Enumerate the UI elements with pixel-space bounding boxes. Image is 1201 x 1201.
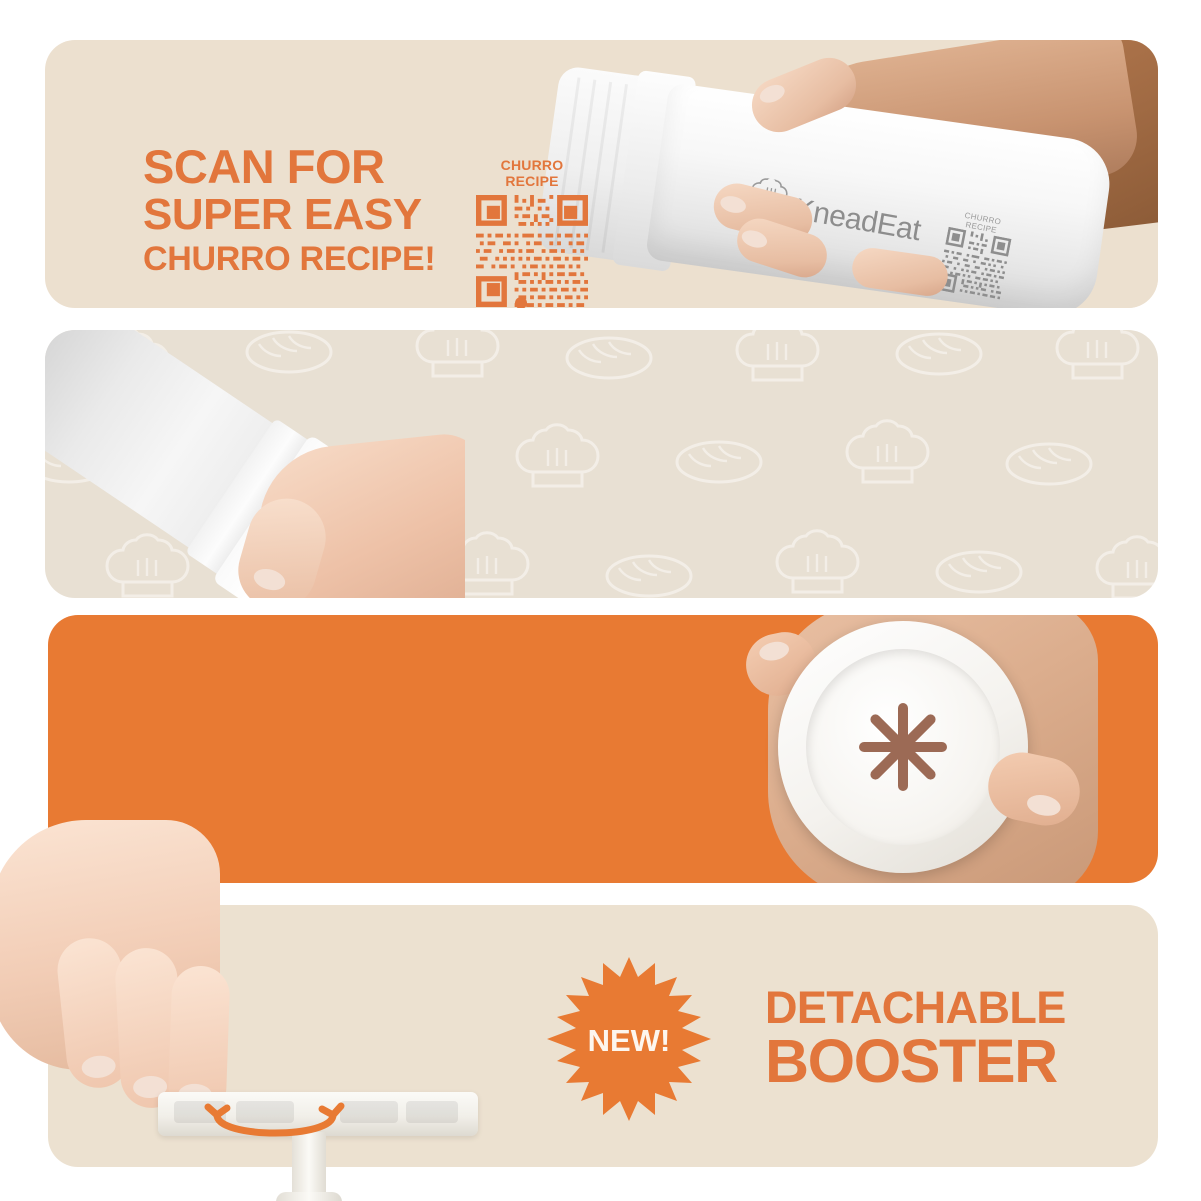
scan-title-line3: CHURRO RECIPE! — [143, 238, 435, 281]
rotate-arrow-icon — [195, 1095, 355, 1157]
panel-scan-title: SCAN FOR SUPER EASY CHURRO RECIPE! — [143, 142, 435, 281]
qr-code-icon[interactable] — [476, 195, 588, 307]
scan-title-line1: SCAN FOR — [143, 142, 435, 192]
new-badge-text: NEW! — [588, 1023, 671, 1058]
booster-title-line1: DETACHABLE — [765, 985, 1066, 1030]
photo-hand-holding-tube: KneadEat CHURRO RECIPE — [538, 40, 1158, 308]
nozzle-cap — [778, 621, 1028, 873]
booster-title-line2: BOOSTER — [765, 1030, 1066, 1092]
scan-title-line2: SUPER EASY — [143, 192, 435, 239]
qr-caption-line1: CHURRO — [470, 158, 594, 174]
qr-code-block[interactable]: CHURRO RECIPE — [470, 158, 594, 308]
photo-hand-holding-nozzle-cap — [738, 615, 1158, 883]
panel-translucid-plastic: BPA FREE TRANSLUCID PLASTIC — [45, 330, 1158, 598]
star-nozzle-icon — [853, 697, 953, 797]
product-infographic: KneadEat CHURRO RECIPE — [0, 0, 1201, 1201]
panel-booster-title: DETACHABLE BOOSTER — [765, 985, 1066, 1092]
photo-hand-holding-tilted-tube — [45, 330, 465, 598]
new-starburst-badge: NEW! — [545, 955, 713, 1123]
nozzle-cap-inner — [806, 649, 1000, 845]
qr-connector-line — [515, 296, 765, 308]
qr-caption-line2: RECIPE — [470, 174, 594, 190]
qr-code-icon — [937, 226, 1012, 301]
panel-scan-for-recipe: KneadEat CHURRO RECIPE — [45, 40, 1158, 308]
booster-knob — [276, 1192, 342, 1201]
